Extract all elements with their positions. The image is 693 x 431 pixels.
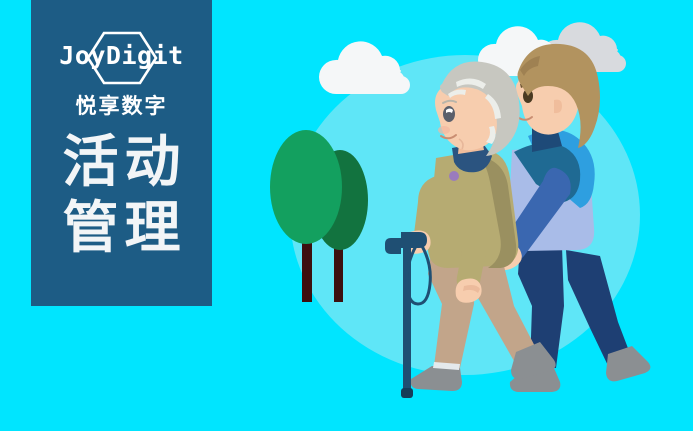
page-title: 活动 管理 (31, 130, 212, 262)
poster-canvas: JoyDigit 悦享数字 活动 管理 (0, 0, 693, 431)
logo-wordmark: JoyDigit (31, 43, 212, 68)
brand-logo: JoyDigit 悦享数字 (31, 30, 212, 120)
page-title-line-2: 管理 (31, 196, 212, 262)
page-title-line-1: 活动 (31, 130, 212, 196)
logo-badge-icon: JoyDigit (31, 30, 212, 86)
elderly-woman-button (449, 171, 459, 181)
elderly-woman-eye (443, 106, 455, 122)
title-panel: JoyDigit 悦享数字 活动 管理 (31, 0, 212, 306)
logo-subtitle: 悦享数字 (31, 90, 212, 120)
